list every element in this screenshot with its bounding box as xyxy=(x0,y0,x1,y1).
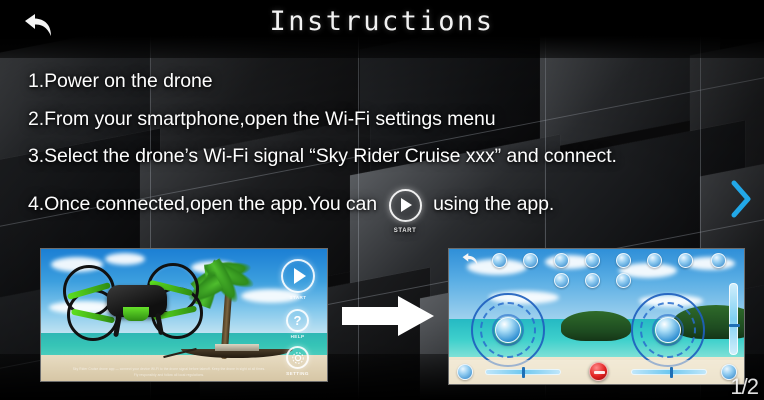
return-home-icon xyxy=(711,253,726,268)
step-4-text-before: Once connected,open the app.You can xyxy=(44,195,377,215)
step-1-text: Power on the drone xyxy=(44,72,212,92)
app-home-screenshot[interactable]: Sky Rider Cruise drone app — connect you… xyxy=(40,248,328,382)
direction-joystick[interactable] xyxy=(631,293,705,367)
panel-help-label: HELP xyxy=(291,334,305,339)
play-icon xyxy=(389,189,422,222)
instructions-screen: Instructions 1. Power on the drone 2. Fr… xyxy=(0,0,764,400)
step-1-number: 1. xyxy=(28,72,44,92)
info-icon xyxy=(457,364,473,380)
back-arrow-icon[interactable] xyxy=(459,252,481,268)
step-2-number: 2. xyxy=(28,110,44,130)
trim-slider-left[interactable] xyxy=(485,369,561,375)
step-3-number: 3. xyxy=(28,147,44,167)
step-2-text: From your smartphone,open the Wi-Fi sett… xyxy=(44,110,495,130)
photo-icon xyxy=(492,253,507,268)
header: Instructions xyxy=(0,0,764,52)
panel-settings-button[interactable]: SETTING xyxy=(286,346,309,376)
panel-start-button[interactable]: START xyxy=(281,259,315,300)
disclaimer-text: Sky Rider Cruise drone app — connect you… xyxy=(71,367,267,378)
play-icon xyxy=(281,259,315,293)
page-title: Instructions xyxy=(0,6,764,37)
panel-settings-label: SETTING xyxy=(286,371,309,376)
calibrate-icon xyxy=(616,273,631,288)
gyro-icon xyxy=(585,253,600,268)
page-indicator: 1/2 xyxy=(730,374,758,400)
controller-toolbar xyxy=(449,249,744,293)
drone-image xyxy=(63,263,211,343)
trim-slider-right[interactable] xyxy=(631,369,707,375)
video-icon xyxy=(523,253,538,268)
island-left xyxy=(561,311,631,341)
gear-icon xyxy=(286,346,309,369)
album-icon xyxy=(554,253,569,268)
joystick-knob[interactable] xyxy=(655,317,681,343)
panel-start-label: START xyxy=(290,295,307,300)
transition-arrow xyxy=(340,292,436,340)
panel-help-button[interactable]: ? HELP xyxy=(286,309,309,339)
altitude-slider[interactable] xyxy=(729,283,738,355)
instruction-step-3: 3. Select the drone’s Wi-Fi signal “Sky … xyxy=(28,147,617,167)
trim-icon xyxy=(554,273,569,288)
question-mark-icon: ? xyxy=(286,309,309,332)
step-4-number: 4. xyxy=(28,195,44,215)
step-4-text-after: using the app. xyxy=(433,195,554,215)
step-3-text: Select the drone’s Wi-Fi signal “Sky Rid… xyxy=(44,147,617,167)
instruction-step-4: 4. Once connected,open the app.You can S… xyxy=(28,185,554,225)
headless-icon xyxy=(616,253,631,268)
chevron-right-icon xyxy=(729,179,753,219)
joystick-knob[interactable] xyxy=(495,317,521,343)
speed-icon xyxy=(678,253,693,268)
throttle-joystick[interactable] xyxy=(471,293,545,367)
inline-start-button[interactable]: START xyxy=(382,185,428,225)
instruction-step-1: 1. Power on the drone xyxy=(28,72,212,92)
right-arrow-icon xyxy=(340,292,436,340)
emergency-stop-button[interactable] xyxy=(589,362,608,381)
rotate-icon xyxy=(647,253,662,268)
boat-image xyxy=(181,343,293,358)
next-page-button[interactable] xyxy=(724,176,758,222)
instruction-step-2: 2. From your smartphone,open the Wi-Fi s… xyxy=(28,110,495,130)
controller-bottom-bar xyxy=(449,360,744,384)
inline-start-label: START xyxy=(394,228,417,234)
flip-icon xyxy=(585,273,600,288)
controller-screenshot[interactable] xyxy=(448,248,745,385)
